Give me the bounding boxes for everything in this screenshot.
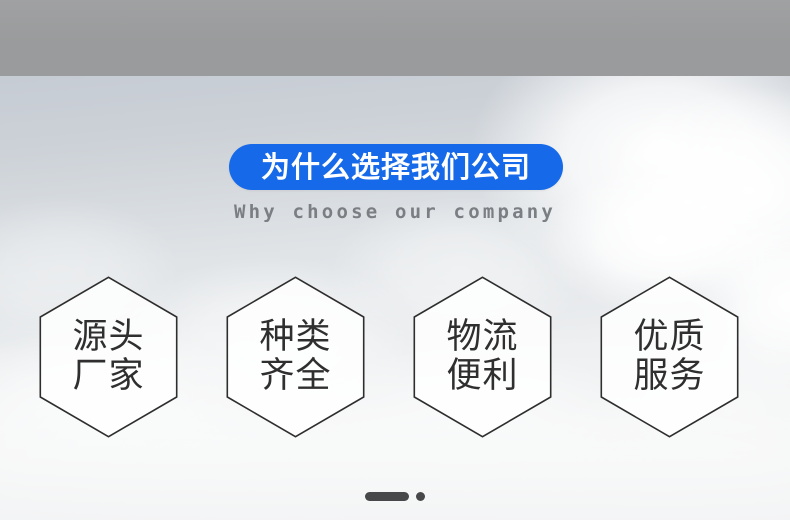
feature-label: 种类 齐全 <box>226 276 365 438</box>
feature-label-line1: 优质 <box>633 318 705 357</box>
carousel-pagination[interactable] <box>0 492 790 501</box>
feature-label-line2: 便利 <box>446 357 518 396</box>
feature-label-line2: 厂家 <box>72 357 144 396</box>
feature-label: 优质 服务 <box>600 276 739 438</box>
section-subtitle: Why choose our company <box>0 203 790 222</box>
cloud-shape <box>600 86 790 296</box>
feature-label-line1: 种类 <box>259 318 331 357</box>
feature-hexagon-row: 源头 厂家 种类 齐全 物流 便利 <box>39 276 739 438</box>
feature-label-line1: 物流 <box>446 318 518 357</box>
feature-hexagon-source-factory[interactable]: 源头 厂家 <box>39 276 178 438</box>
top-gray-band <box>0 0 790 76</box>
section-title-badge: 为什么选择我们公司 <box>229 144 563 190</box>
feature-label: 物流 便利 <box>413 276 552 438</box>
feature-label-line2: 服务 <box>633 357 705 396</box>
feature-label-line2: 齐全 <box>259 357 331 396</box>
feature-label: 源头 厂家 <box>39 276 178 438</box>
pagination-dot-inactive[interactable] <box>416 492 425 501</box>
feature-hexagon-convenient-logistics[interactable]: 物流 便利 <box>413 276 552 438</box>
page-title: 为什么选择我们公司 <box>261 153 531 182</box>
feature-hexagon-quality-service[interactable]: 优质 服务 <box>600 276 739 438</box>
feature-label-line1: 源头 <box>72 318 144 357</box>
promo-banner-page: 为什么选择我们公司 Why choose our company 源头 厂家 种… <box>0 0 790 520</box>
feature-hexagon-full-variety[interactable]: 种类 齐全 <box>226 276 365 438</box>
pagination-dot-active[interactable] <box>365 492 409 501</box>
